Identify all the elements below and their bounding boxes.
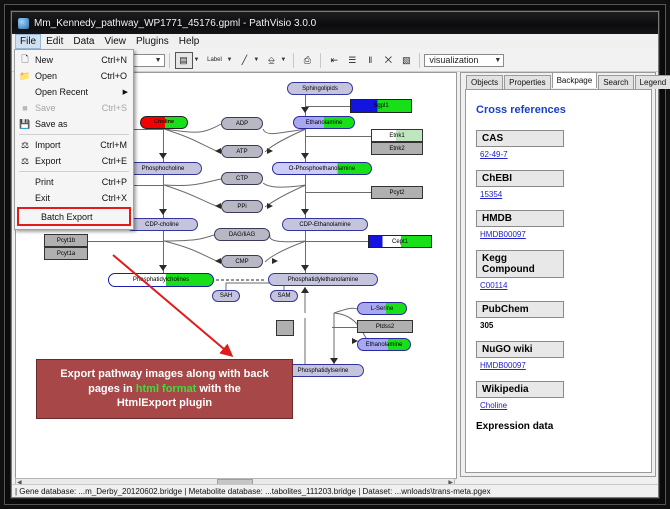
- chevron-down-icon[interactable]: ▼: [226, 57, 232, 63]
- file-menu-dropdown[interactable]: 🗋 New Ctrl+N 📁 Open Ctrl+O Open Recent ▶…: [14, 49, 134, 230]
- gene-node[interactable]: Cept1: [368, 235, 432, 248]
- toolbar-divider: [169, 53, 170, 68]
- order-icon[interactable]: ▧: [398, 53, 414, 68]
- menu-divider: [19, 171, 129, 172]
- window-titlebar: Mm_Kennedy_pathway_WP1771_45176.gpml - P…: [12, 12, 658, 35]
- file-menu-shortcut: Ctrl+E: [102, 156, 133, 166]
- backpage-content: Cross references CAS 62-49-7 ChEBI 15354…: [465, 89, 652, 473]
- xref-source-pubchem: PubChem: [476, 301, 564, 318]
- gene-connector: [305, 241, 368, 242]
- window-title: Mm_Kennedy_pathway_WP1771_45176.gpml - P…: [34, 18, 316, 29]
- file-menu-shortcut: Ctrl+M: [100, 140, 133, 150]
- metabolite-node[interactable]: CTP: [221, 172, 263, 185]
- file-menu-item-new[interactable]: 🗋 New Ctrl+N: [15, 52, 133, 68]
- file-menu-item-batch-export[interactable]: Batch Export: [17, 207, 131, 226]
- callout-line1: Export pathway images along with back: [60, 368, 268, 380]
- node-label: CDP-choline: [145, 222, 179, 228]
- xref-link-kegg[interactable]: C00114: [480, 281, 507, 290]
- node-label: Ethanolamine: [306, 120, 343, 126]
- node-label: SAM: [277, 293, 290, 299]
- file-menu-shortcut: Ctrl+X: [102, 193, 133, 203]
- new-document-icon: 🗋: [15, 52, 35, 68]
- metabolite-node[interactable]: DAG/IiAG: [214, 228, 270, 241]
- status-text: | Gene database: ...m_Derby_20120602.bri…: [15, 487, 491, 496]
- file-menu-item-import[interactable]: ⚖ Import Ctrl+M: [15, 137, 133, 153]
- xref-source-cas: CAS: [476, 130, 564, 147]
- arrow-icon: [301, 153, 309, 159]
- receptor-tool-icon[interactable]: ⎒: [263, 53, 279, 68]
- arrow-icon: [301, 265, 309, 271]
- visualization-value: visualization: [429, 55, 478, 65]
- callout-line2-after: with the: [196, 383, 241, 395]
- file-menu-item-open-recent[interactable]: Open Recent ▶: [15, 84, 133, 100]
- xref-link-wikipedia[interactable]: Choline: [480, 401, 507, 410]
- xref-source-chebi: ChEBI: [476, 170, 564, 187]
- arrow-icon: [301, 209, 309, 215]
- node-label: Phosphocholine: [142, 166, 185, 172]
- xref-value-hmdb[interactable]: HMDB00097: [480, 230, 641, 239]
- anchor-shape: [276, 320, 294, 336]
- chevron-down-icon: ▼: [155, 57, 162, 64]
- metabolite-node[interactable]: Phosphocholine: [124, 162, 202, 175]
- file-menu-label: Export: [35, 156, 102, 166]
- anchor-tool-icon[interactable]: ⎙: [299, 53, 315, 68]
- line-tool-icon[interactable]: ╱: [236, 53, 252, 68]
- xref-value-wikipedia[interactable]: Choline: [480, 401, 641, 410]
- xref-source-kegg: Kegg Compound: [476, 250, 564, 278]
- arrow-icon: [159, 153, 167, 159]
- group-icon[interactable]: ⨉: [380, 53, 396, 68]
- menu-view[interactable]: View: [99, 34, 131, 49]
- annotation-callout: Export pathway images along with back pa…: [36, 359, 293, 419]
- metabolite-node[interactable]: Phosphatidylethanolamine: [268, 273, 378, 286]
- metabolite-node[interactable]: L-Serine: [357, 302, 407, 315]
- menu-help[interactable]: Help: [174, 34, 205, 49]
- file-menu-label: New: [35, 55, 101, 65]
- xref-value-chebi[interactable]: 15354: [480, 190, 641, 199]
- xref-link-hmdb[interactable]: HMDB00097: [480, 230, 526, 239]
- xref-source-hmdb: HMDB: [476, 210, 564, 227]
- node-label: Pcyt2: [389, 190, 404, 196]
- side-panel-tabs[interactable]: Objects Properties Backpage Search Legen…: [461, 75, 655, 89]
- xref-value-nugo[interactable]: HMDB00097: [480, 361, 641, 370]
- submenu-arrow-icon: ▶: [123, 88, 128, 96]
- gene-node[interactable]: Sgpl1: [350, 99, 412, 113]
- toolbar-divider: [320, 53, 321, 68]
- gene-node[interactable]: Pcyt1a: [44, 247, 88, 260]
- xref-link-cas[interactable]: 62-49-7: [480, 150, 508, 159]
- file-menu-label: Exit: [35, 193, 102, 203]
- file-menu-shortcut: Ctrl+O: [101, 71, 133, 81]
- callout-highlight: html format: [136, 383, 197, 395]
- gene-node[interactable]: Pcyt1b: [44, 234, 88, 247]
- file-menu-label: Save: [35, 103, 102, 113]
- xref-value-cas[interactable]: 62-49-7: [480, 150, 641, 159]
- node-label: PPi: [237, 204, 246, 210]
- menu-divider: [19, 134, 129, 135]
- node-label: Ptdss2: [376, 324, 394, 330]
- metabolite-node[interactable]: ATP: [221, 145, 263, 158]
- node-label: L-Serine: [371, 306, 394, 312]
- menu-file[interactable]: File: [15, 34, 41, 49]
- node-label: Phosphatidylethanolamine: [288, 277, 358, 283]
- node-label: Etnk2: [389, 146, 404, 152]
- node-label: Etnk1: [389, 133, 404, 139]
- node-label: Ethanolamine: [366, 342, 403, 348]
- node-label: Pcyt1b: [57, 238, 75, 244]
- metabolite-node[interactable]: SAM: [270, 290, 298, 302]
- metabolite-node[interactable]: O-Phosphoethanolamine: [272, 162, 372, 175]
- file-menu-item-exit[interactable]: Exit Ctrl+X: [15, 190, 133, 206]
- image-frame: Mm_Kennedy_pathway_WP1771_45176.gpml - P…: [0, 0, 670, 509]
- visualization-combobox[interactable]: visualization ▼: [424, 54, 504, 67]
- xref-value-kegg[interactable]: C00114: [480, 281, 641, 290]
- file-menu-label: Import: [35, 140, 100, 150]
- datanode-tool-icon[interactable]: ▤: [175, 52, 193, 69]
- expression-data-heading: Expression data: [476, 421, 641, 432]
- cross-references-heading: Cross references: [476, 104, 641, 116]
- xref-link-chebi[interactable]: 15354: [480, 190, 502, 199]
- file-menu-item-save-as[interactable]: 💾 Save as: [15, 116, 133, 132]
- file-menu-label: Save as: [35, 119, 127, 129]
- callout-line2-before: pages in: [88, 383, 136, 395]
- arrow-icon: [267, 203, 273, 209]
- file-menu-item-export[interactable]: ⚖ Export Ctrl+E: [15, 153, 133, 169]
- xref-link-nugo[interactable]: HMDB00097: [480, 361, 526, 370]
- menu-data[interactable]: Data: [68, 34, 99, 49]
- align-left-icon[interactable]: ⇤: [326, 53, 342, 68]
- metabolite-node[interactable]: Ethanolamine: [293, 116, 355, 129]
- menu-edit[interactable]: Edit: [41, 34, 68, 49]
- pathvisio-window: Mm_Kennedy_pathway_WP1771_45176.gpml - P…: [11, 11, 659, 498]
- node-label: DAG/IiAG: [229, 232, 255, 238]
- gene-node[interactable]: Pcyt2: [371, 186, 423, 199]
- metabolite-node[interactable]: Ethanolamine: [357, 338, 411, 351]
- arrow-icon: [159, 209, 167, 215]
- metabolite-node[interactable]: Sphingolipids: [287, 82, 353, 95]
- node-label: Choline: [154, 120, 174, 126]
- tab-backpage[interactable]: Backpage: [552, 72, 598, 88]
- toolbar-divider: [419, 53, 420, 68]
- status-bar: | Gene database: ...m_Derby_20120602.bri…: [12, 484, 658, 497]
- file-menu-shortcut: Ctrl+S: [102, 103, 133, 113]
- node-label: Sgpl1: [373, 103, 388, 109]
- distribute-icon[interactable]: ‖: [362, 53, 378, 68]
- metabolite-node[interactable]: Phosphatidylserine: [282, 364, 364, 377]
- file-menu-shortcut: Ctrl+P: [102, 177, 133, 187]
- node-label: Phosphatidylserine: [298, 368, 349, 374]
- callout-line3: HtmlExport plugin: [117, 397, 212, 409]
- arrow-icon: [301, 107, 309, 113]
- node-label: Sphingolipids: [302, 86, 338, 92]
- gene-connector: [305, 106, 350, 107]
- gene-connector: [88, 241, 164, 242]
- gene-connector: [332, 327, 357, 328]
- file-menu-item-save: ■ Save Ctrl+S: [15, 100, 133, 116]
- metabolite-node[interactable]: ADP: [221, 117, 263, 130]
- node-label: Cept1: [392, 239, 408, 245]
- gene-node[interactable]: Ptdss2: [357, 320, 413, 333]
- chevron-down-icon[interactable]: ▼: [280, 57, 286, 63]
- menubar[interactable]: File Edit Data View Plugins Help: [12, 34, 658, 50]
- tab-search[interactable]: Search: [598, 75, 633, 89]
- metabolite-node[interactable]: PPi: [221, 200, 263, 213]
- arrow-icon: [267, 148, 273, 154]
- gene-node[interactable]: Etnk1: [371, 129, 423, 142]
- arrow-icon: [272, 258, 278, 264]
- file-menu-label: Open: [35, 71, 101, 81]
- label-tool-button[interactable]: Label: [203, 53, 225, 68]
- chevron-down-icon[interactable]: ▼: [194, 57, 200, 63]
- node-label: O-Phosphoethanolamine: [289, 166, 355, 172]
- chevron-down-icon: ▼: [494, 57, 501, 64]
- node-label: CTP: [236, 176, 248, 182]
- gene-connector: [305, 136, 371, 137]
- file-menu-item-print[interactable]: Print Ctrl+P: [15, 174, 133, 190]
- xref-value-pubchem: 305: [480, 321, 641, 330]
- file-menu-label: Batch Export: [39, 212, 129, 222]
- metabolite-node[interactable]: CDP-Ethanolamine: [282, 218, 368, 231]
- node-label: ATP: [236, 149, 247, 155]
- file-menu-shortcut: Ctrl+N: [101, 55, 133, 65]
- metabolite-node[interactable]: CDP-choline: [126, 218, 198, 231]
- pathvisio-icon: [18, 18, 29, 29]
- node-label: Pcyt1a: [57, 251, 75, 257]
- red-annotation-arrow: [111, 253, 261, 368]
- open-folder-icon: 📁: [15, 71, 35, 82]
- save-as-icon: 💾: [15, 119, 35, 130]
- node-label: ADP: [236, 121, 248, 127]
- align-center-icon[interactable]: ☰: [344, 53, 360, 68]
- toolbar-divider: [293, 53, 294, 68]
- save-icon: ■: [15, 103, 35, 113]
- arrow-icon: [301, 287, 309, 293]
- tab-legend[interactable]: Legend: [635, 75, 670, 89]
- gene-node[interactable]: Etnk2: [371, 142, 423, 155]
- export-icon: ⚖: [15, 156, 35, 167]
- menu-plugins[interactable]: Plugins: [131, 34, 174, 49]
- node-label: CDP-Ethanolamine: [299, 222, 350, 228]
- file-menu-item-open[interactable]: 📁 Open Ctrl+O: [15, 68, 133, 84]
- xref-source-nugo: NuGO wiki: [476, 341, 564, 358]
- chevron-down-icon[interactable]: ▼: [253, 57, 259, 63]
- file-menu-label: Open Recent: [35, 87, 133, 97]
- metabolite-node[interactable]: Choline: [140, 116, 188, 129]
- gene-connector: [305, 192, 371, 193]
- side-panel: Objects Properties Backpage Search Legen…: [460, 72, 656, 477]
- import-icon: ⚖: [15, 140, 35, 151]
- xref-source-wikipedia: Wikipedia: [476, 381, 564, 398]
- tab-properties[interactable]: Properties: [504, 75, 550, 89]
- tab-objects[interactable]: Objects: [466, 75, 503, 89]
- file-menu-label: Print: [35, 177, 102, 187]
